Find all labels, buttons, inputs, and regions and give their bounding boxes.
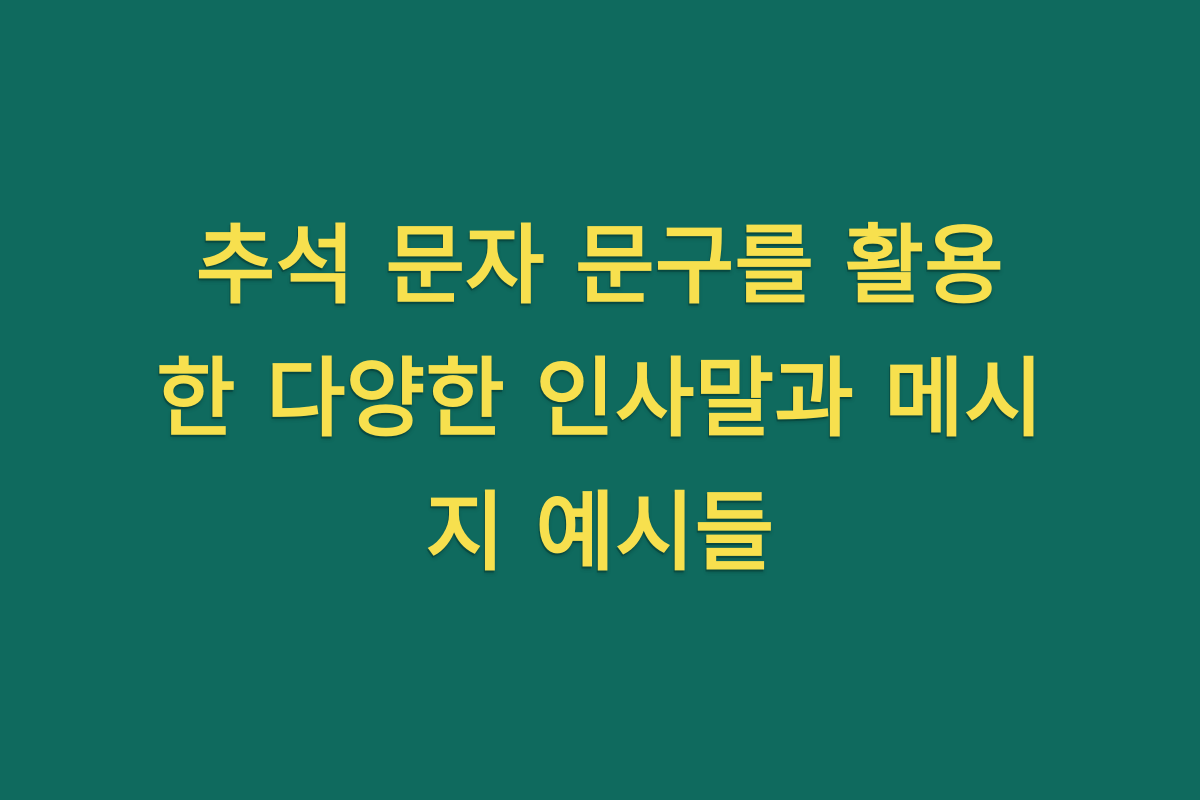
banner-canvas: 추석 문자 문구를 활용 한 다양한 인사말과 메시 지 예시들 [0, 0, 1200, 800]
headline-line-2: 한 다양한 인사말과 메시 [70, 333, 1130, 466]
headline-line-3: 지 예시들 [70, 467, 1130, 600]
headline-line-1: 추석 문자 문구를 활용 [70, 200, 1130, 333]
headline-text-block: 추석 문자 문구를 활용 한 다양한 인사말과 메시 지 예시들 [70, 200, 1130, 600]
